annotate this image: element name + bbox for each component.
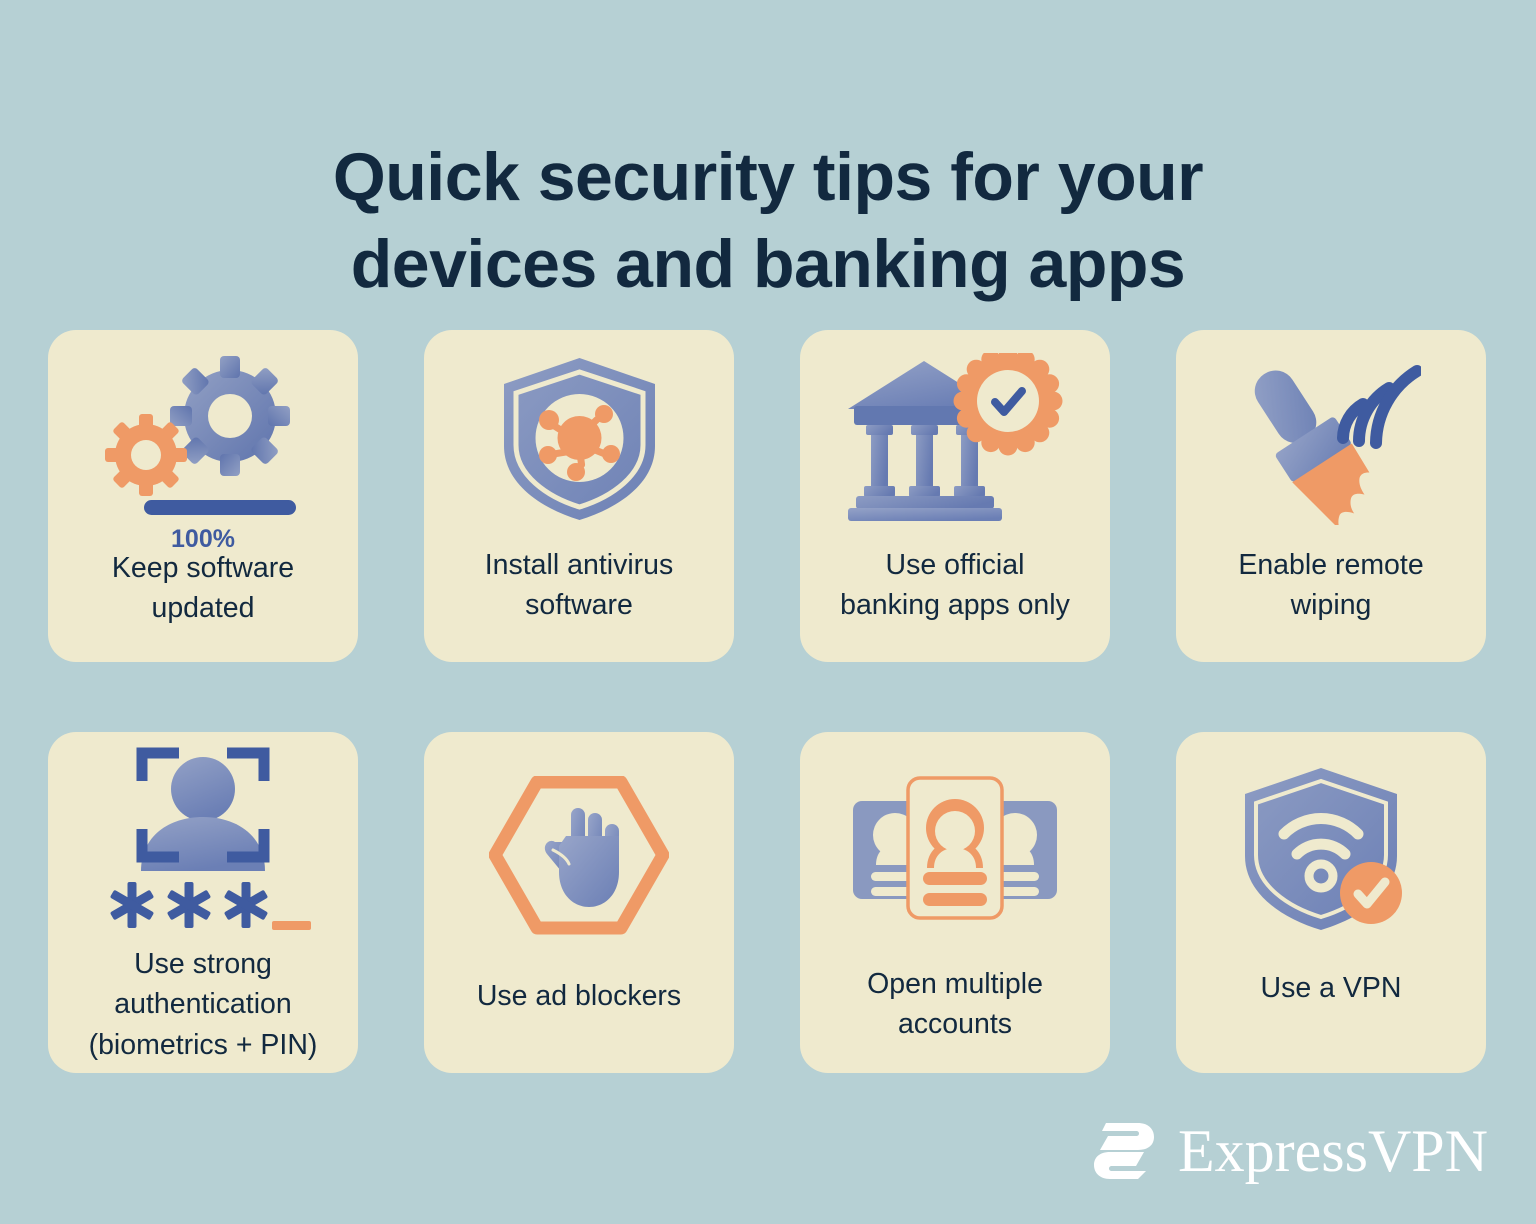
tip-card-label: Use ad blockers	[467, 976, 691, 1016]
tip-card-label: Open multiple accounts	[857, 964, 1053, 1045]
shield-wifi-check-icon	[1176, 732, 1486, 972]
tip-card-enable-remote-wiping: Enable remote wiping	[1176, 330, 1486, 662]
hexagon-stop-hand-icon	[424, 732, 734, 980]
tip-card-use-ad-blockers: Use ad blockers	[424, 732, 734, 1073]
shield-virus-icon	[424, 330, 734, 545]
bank-verified-badge-icon	[800, 330, 1110, 545]
expressvpn-logo-text: ExpressVPN	[1178, 1121, 1488, 1181]
tip-card-use-a-vpn: Use a VPN	[1176, 732, 1486, 1073]
tip-card-label: Use strong authentication (biometrics + …	[79, 944, 328, 1065]
tip-card-install-antivirus-software: Install antivirus software	[424, 330, 734, 662]
brush-signal-icon	[1176, 330, 1486, 545]
expressvpn-logo: ExpressVPN	[1088, 1120, 1488, 1182]
infographic-page: Quick security tips for your devices and…	[0, 0, 1536, 1224]
expressvpn-mark-icon	[1088, 1120, 1160, 1182]
tip-card-label: Keep software updated	[102, 548, 304, 629]
tip-card-open-multiple-accounts: Open multiple accounts	[800, 732, 1110, 1073]
tips-grid: 100% Keep software updated	[48, 330, 1488, 1073]
progress-percent-label: 100%	[48, 525, 358, 554]
tip-card-use-official-banking-apps-only: Use official banking apps only	[800, 330, 1110, 662]
tip-card-label: Use official banking apps only	[830, 545, 1080, 626]
tip-card-use-strong-authentication: Use strong authentication (biometrics + …	[48, 732, 358, 1073]
face-scan-password-icon	[48, 732, 358, 944]
tip-card-keep-software-updated: 100% Keep software updated	[48, 330, 358, 662]
gears-progress-icon: 100%	[48, 330, 358, 548]
multiple-id-cards-icon	[800, 732, 1110, 964]
tip-card-label: Enable remote wiping	[1228, 545, 1433, 626]
tip-card-label: Use a VPN	[1251, 968, 1412, 1008]
tip-card-label: Install antivirus software	[475, 545, 684, 626]
page-title: Quick security tips for your devices and…	[0, 134, 1536, 308]
